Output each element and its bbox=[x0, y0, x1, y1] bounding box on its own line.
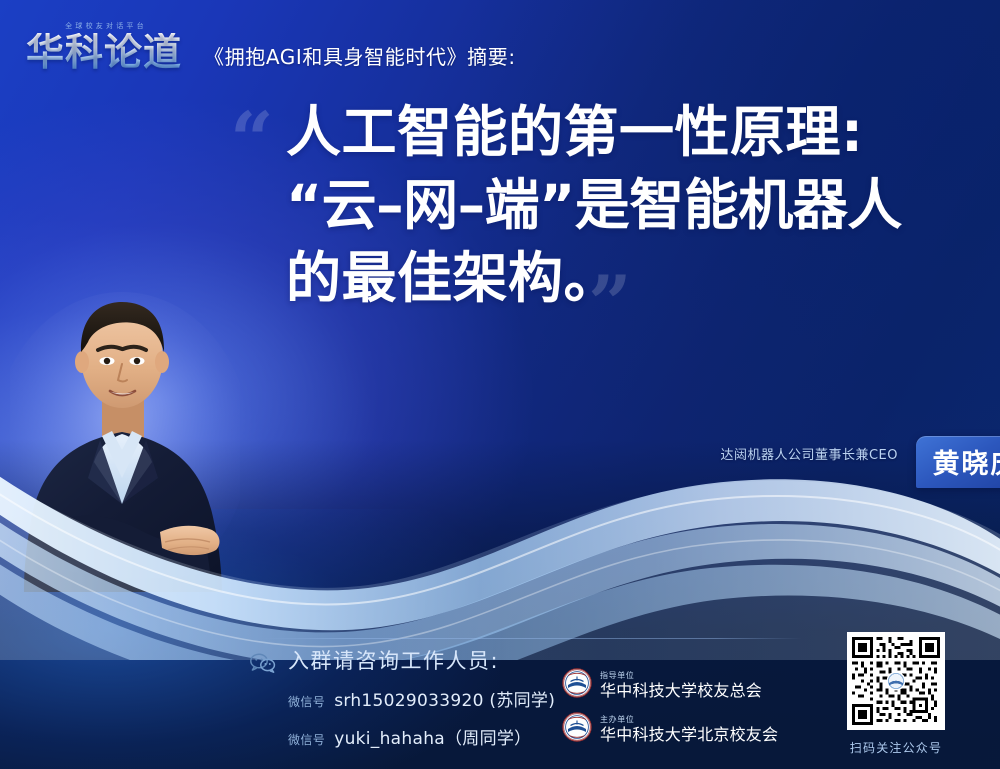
qr-caption: 扫码关注公众号 bbox=[840, 739, 952, 756]
organizer-name: 华中科技大学校友总会 bbox=[600, 683, 762, 699]
organizer-row: 指导单位 华中科技大学校友总会 bbox=[562, 668, 778, 703]
contact-label: 微信号 bbox=[288, 731, 325, 748]
footer-heading: 入群请咨询工作人员: bbox=[288, 645, 555, 675]
qr-code-icon[interactable] bbox=[847, 632, 945, 730]
qr-section: 扫码关注公众号 bbox=[840, 632, 952, 756]
speaker-name-badge: 黄晓庆 bbox=[916, 436, 1000, 488]
poster-header: 全球校友对话平台 华科论道 《拥抱AGI和具身智能时代》摘要: bbox=[0, 0, 1000, 92]
organizer-kind: 指导单位 bbox=[600, 672, 762, 680]
contact-label: 微信号 bbox=[288, 693, 325, 710]
contact-value: yuki_hahaha（周同学） bbox=[334, 724, 531, 749]
speaker-portrait bbox=[10, 292, 240, 592]
quote-close-mark: ” bbox=[588, 266, 632, 342]
poster-canvas: 全球校友对话平台 华科论道 《拥抱AGI和具身智能时代》摘要: “ 人工智能的第… bbox=[0, 0, 1000, 769]
contact-row: 微信号 yuki_hahaha（周同学） bbox=[288, 724, 555, 749]
organizer-badges: 指导单位 华中科技大学校友总会 主办单位 华中科技大学北京校友会 bbox=[562, 668, 778, 756]
quote-line: “云–网–端”是智能机器人 bbox=[286, 169, 970, 242]
wechat-icon bbox=[250, 653, 276, 678]
brand-logo: 全球校友对话平台 华科论道 bbox=[26, 21, 182, 71]
university-seal-icon bbox=[562, 712, 592, 747]
brand-tagline: 全球校友对话平台 bbox=[65, 21, 147, 31]
speaker-role: 达闼机器人公司董事长兼CEO bbox=[720, 444, 898, 463]
organizer-name: 华中科技大学北京校友会 bbox=[600, 727, 778, 743]
organizer-kind: 主办单位 bbox=[600, 716, 778, 724]
contact-row: 微信号 srh15029033920 (苏同学) bbox=[288, 686, 555, 711]
organizer-row: 主办单位 华中科技大学北京校友会 bbox=[562, 712, 778, 747]
quote-line: 人工智能的第一性原理: bbox=[286, 96, 970, 169]
brand-logo-text: 华科论道 bbox=[26, 33, 182, 71]
contact-value: srh15029033920 (苏同学) bbox=[334, 686, 555, 711]
speaker-attribution: 达闼机器人公司董事长兼CEO 黄晓庆 bbox=[720, 444, 912, 463]
university-seal-icon bbox=[562, 668, 592, 703]
quote-block: “ 人工智能的第一性原理: “云–网–端”是智能机器人 的最佳架构。 ” bbox=[230, 96, 970, 315]
footer-divider bbox=[262, 638, 802, 639]
quote-open-mark: “ bbox=[230, 102, 274, 178]
page-title: 《拥抱AGI和具身智能时代》摘要: bbox=[204, 41, 516, 70]
